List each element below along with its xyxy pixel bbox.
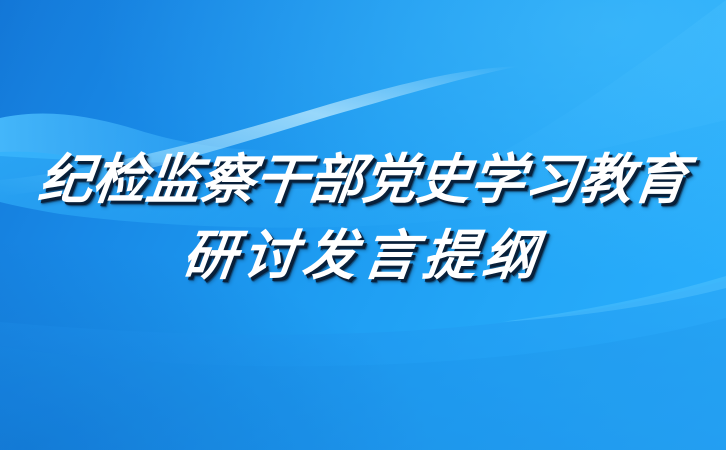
title-line-primary: 纪检监察干部党史学习教育 <box>0 152 726 206</box>
title-line-secondary: 研讨发言提纲 <box>0 228 726 282</box>
cover-banner: 纪检监察干部党史学习教育 研讨发言提纲 <box>0 0 726 450</box>
banner-title: 纪检监察干部党史学习教育 研讨发言提纲 <box>0 152 726 282</box>
